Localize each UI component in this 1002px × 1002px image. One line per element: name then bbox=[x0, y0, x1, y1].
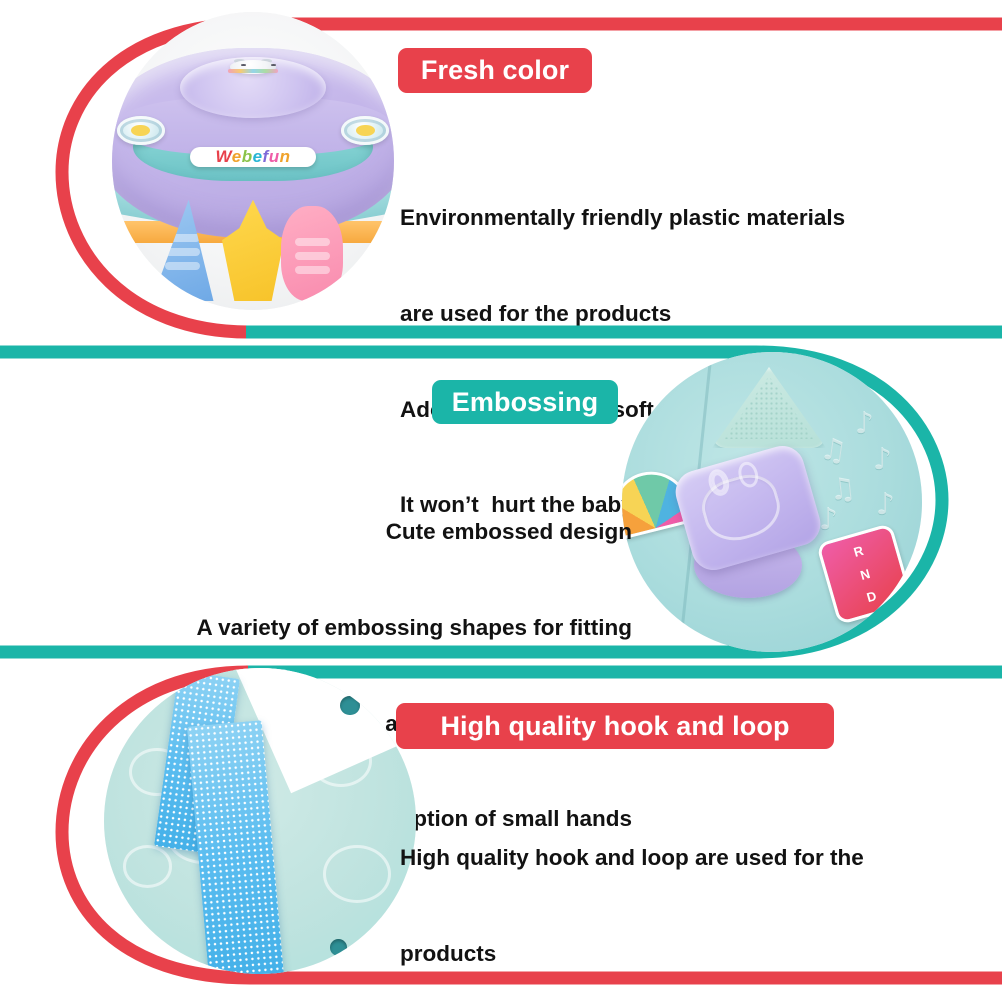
gear-indicator-label: R N D bbox=[816, 523, 914, 625]
panel-2-line-1: Cute embossed design bbox=[10, 516, 632, 548]
screw-dot bbox=[330, 939, 347, 956]
music-note-icon: ♪ bbox=[873, 442, 892, 477]
infographic-root: Webefun Fresh color Environmentally frie… bbox=[0, 0, 1002, 1002]
wheel-button-left bbox=[117, 116, 164, 145]
music-note-icon: ♪ bbox=[876, 487, 895, 522]
brand-logo-text: Webefun bbox=[215, 147, 290, 167]
color-bead-strip bbox=[228, 69, 277, 73]
wheel-button-right bbox=[341, 116, 388, 145]
panel-2-badge: Embossing bbox=[432, 380, 618, 424]
panel-1-line-2: are used for the products bbox=[400, 298, 879, 330]
panel-3-description: High quality hook and loop are used for … bbox=[400, 778, 871, 1002]
music-note-icon: ♪ bbox=[855, 406, 874, 441]
gear-label-n: N bbox=[858, 565, 871, 582]
music-note-icon: ♫ bbox=[818, 431, 850, 469]
velcro-strap-lower bbox=[187, 720, 284, 974]
panel-3-badge: High quality hook and loop bbox=[396, 703, 834, 749]
panel-3-line-2: products bbox=[400, 938, 871, 970]
speaker-mesh-texture bbox=[724, 376, 814, 439]
embossed-shape-icon bbox=[123, 845, 173, 888]
panel-3-product-photo bbox=[104, 668, 416, 974]
panel-1-product-photo: Webefun bbox=[112, 12, 394, 310]
panel-1-line-1: Environmentally friendly plastic materia… bbox=[400, 202, 879, 234]
teether-pink-icon bbox=[281, 206, 343, 301]
panel-1-badge: Fresh color bbox=[398, 48, 592, 93]
gear-shifter-knob bbox=[670, 441, 825, 575]
gear-label-r: R bbox=[852, 543, 865, 560]
panel-2-product-photo: ♪ ♫ ♪ ♫ ♪ ♪ R N D bbox=[622, 352, 922, 652]
panel-3-line-1: High quality hook and loop are used for … bbox=[400, 842, 871, 874]
panel-2-line-2: A variety of embossing shapes for fittin… bbox=[10, 612, 632, 644]
embossed-shape-icon bbox=[310, 735, 372, 787]
music-note-icon: ♪ bbox=[819, 502, 838, 537]
embossed-shape-icon bbox=[323, 845, 391, 903]
wheel-hub bbox=[180, 57, 325, 118]
embossed-paw-icon bbox=[696, 468, 786, 548]
brand-logo-plate: Webefun bbox=[190, 147, 316, 167]
screw-dot bbox=[340, 696, 360, 716]
gear-label-d: D bbox=[865, 588, 878, 605]
